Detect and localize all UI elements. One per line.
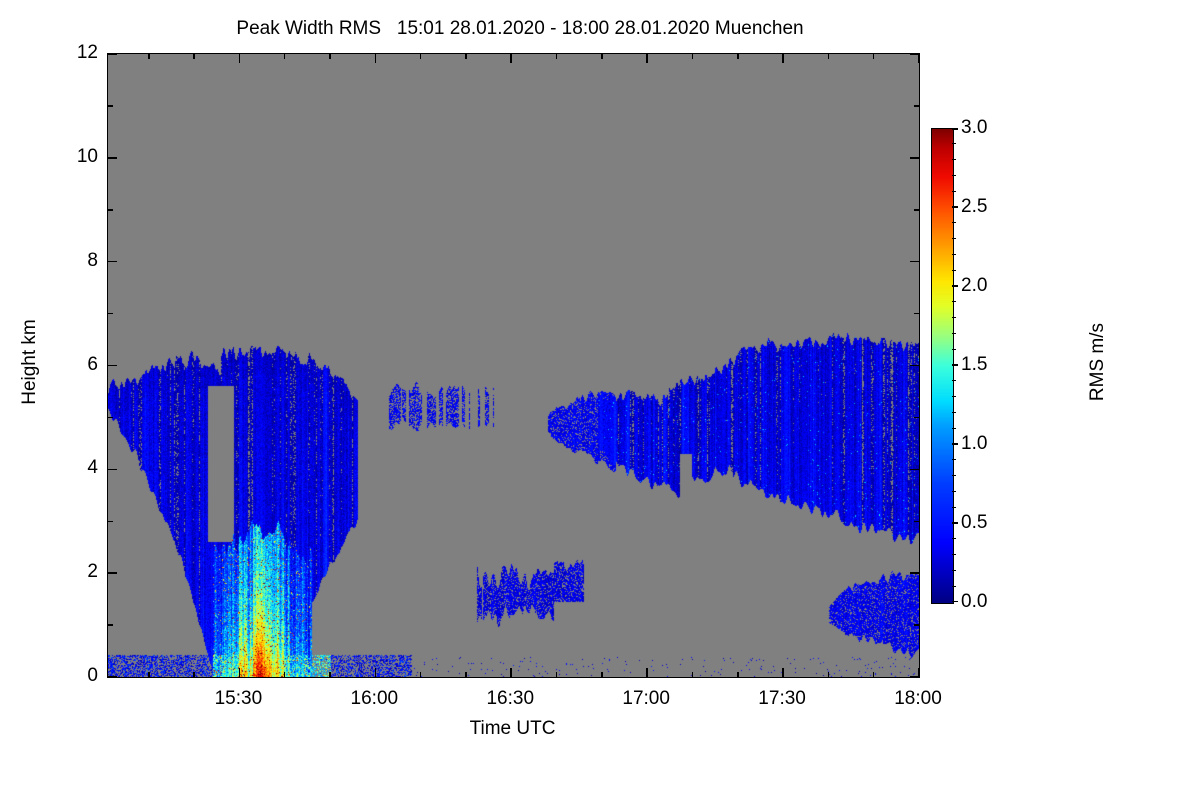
x-tick-major (782, 54, 784, 63)
x-tick-label: 17:00 (622, 688, 670, 710)
colorbar-tick-minor (952, 333, 956, 334)
x-tick-label: 17:30 (758, 688, 806, 710)
colorbar-tick-minor (952, 380, 956, 381)
colorbar-tick (952, 206, 958, 208)
y-tick-label: 2 (30, 561, 98, 583)
colorbar-tick-label: 0.5 (961, 512, 987, 534)
x-tick-major (375, 54, 377, 63)
x-tick-minor (692, 672, 694, 677)
x-tick-minor (556, 54, 558, 59)
colorbar-tick-label: 2.5 (961, 196, 987, 218)
colorbar-tick-minor (952, 301, 956, 302)
x-tick-major (510, 54, 512, 63)
colorbar-tick-minor (952, 191, 956, 192)
colorbar-tick-minor (952, 459, 956, 460)
x-tick-minor (465, 54, 467, 59)
x-tick-minor (329, 54, 331, 59)
colorbar-tick-minor (952, 143, 956, 144)
y-tick-major (108, 261, 117, 263)
x-tick-minor (737, 54, 739, 59)
y-tick-label: 12 (30, 42, 98, 64)
colorbar-tick (952, 443, 958, 445)
colorbar-tick-minor (952, 238, 956, 239)
colorbar-tick-label: 2.0 (961, 275, 987, 297)
colorbar-tick-minor (952, 538, 956, 539)
y-tick-major (108, 572, 117, 574)
y-axis-title: Height km (19, 272, 41, 452)
x-tick-minor (601, 672, 603, 677)
colorbar-tick-minor (952, 586, 956, 587)
colorbar-tick-minor (952, 317, 956, 318)
y-tick-major (910, 365, 919, 367)
heatmap-data-canvas (108, 54, 919, 677)
x-tick-major (646, 54, 648, 63)
y-tick-major (108, 676, 117, 678)
x-tick-minor (873, 54, 875, 59)
colorbar[interactable]: 0.00.51.01.52.02.53.0 (931, 128, 952, 602)
x-tick-major (239, 54, 241, 63)
x-tick-minor (737, 672, 739, 677)
y-tick-minor (108, 417, 113, 419)
colorbar-tick-minor (952, 491, 956, 492)
x-tick-minor (148, 54, 150, 59)
colorbar-tick-minor (952, 159, 956, 160)
y-tick-major (910, 157, 919, 159)
x-tick-minor (556, 672, 558, 677)
y-tick-minor (914, 209, 919, 211)
colorbar-tick-minor (952, 554, 956, 555)
plot-area[interactable] (107, 53, 920, 678)
y-tick-major (108, 53, 117, 55)
x-tick-label: 18:00 (894, 688, 942, 710)
colorbar-tick (952, 128, 958, 130)
colorbar-tick-label: 0.0 (961, 591, 987, 613)
x-tick-major (646, 668, 648, 677)
x-tick-minor (420, 54, 422, 59)
x-tick-minor (601, 54, 603, 59)
x-tick-minor (828, 54, 830, 59)
x-tick-major (239, 668, 241, 677)
colorbar-tick-minor (952, 222, 956, 223)
colorbar-gradient (931, 128, 954, 604)
x-tick-minor (148, 672, 150, 677)
x-tick-minor (193, 54, 195, 59)
figure-canvas: Peak Width RMS 15:01 28.01.2020 - 18:00 … (0, 0, 1200, 800)
y-tick-major (108, 157, 117, 159)
y-tick-minor (108, 105, 113, 107)
x-tick-minor (828, 672, 830, 677)
x-tick-label: 16:00 (351, 688, 399, 710)
y-tick-minor (108, 313, 113, 315)
colorbar-tick-minor (952, 175, 956, 176)
colorbar-tick-minor (952, 349, 956, 350)
x-tick-major (918, 54, 920, 63)
x-tick-label: 16:30 (486, 688, 534, 710)
y-tick-minor (914, 105, 919, 107)
x-axis-title: Time UTC (107, 718, 918, 740)
y-tick-minor (914, 521, 919, 523)
x-tick-minor (329, 672, 331, 677)
y-tick-minor (914, 417, 919, 419)
colorbar-tick-minor (952, 396, 956, 397)
x-tick-label: 15:30 (215, 688, 263, 710)
colorbar-tick-label: 3.0 (961, 117, 987, 139)
x-tick-major (375, 668, 377, 677)
colorbar-tick-minor (952, 428, 956, 429)
y-tick-major (910, 572, 919, 574)
y-tick-label: 4 (30, 457, 98, 479)
y-tick-major (108, 469, 117, 471)
y-tick-minor (914, 624, 919, 626)
x-tick-minor (692, 54, 694, 59)
x-tick-major (510, 668, 512, 677)
x-tick-minor (284, 54, 286, 59)
colorbar-tick-minor (952, 475, 956, 476)
x-tick-minor (465, 672, 467, 677)
colorbar-tick (952, 364, 958, 366)
colorbar-tick-minor (952, 412, 956, 413)
y-tick-label: 10 (30, 146, 98, 168)
colorbar-tick-minor (952, 254, 956, 255)
y-tick-minor (108, 624, 113, 626)
y-tick-label: 0 (30, 665, 98, 687)
colorbar-tick-label: 1.5 (961, 354, 987, 376)
x-tick-major (782, 668, 784, 677)
colorbar-tick (952, 285, 958, 287)
x-tick-minor (193, 672, 195, 677)
x-tick-minor (873, 672, 875, 677)
x-tick-minor (420, 672, 422, 677)
y-tick-major (108, 365, 117, 367)
y-tick-minor (914, 313, 919, 315)
colorbar-tick-minor (952, 270, 956, 271)
y-tick-minor (108, 209, 113, 211)
colorbar-tick-minor (952, 507, 956, 508)
y-tick-major (910, 261, 919, 263)
plot-title: Peak Width RMS 15:01 28.01.2020 - 18:00 … (0, 18, 1040, 40)
colorbar-title: RMS m/s (1087, 272, 1109, 452)
colorbar-tick (952, 522, 958, 524)
colorbar-tick (952, 601, 958, 603)
x-tick-minor (284, 672, 286, 677)
x-tick-major (918, 668, 920, 677)
y-tick-minor (108, 521, 113, 523)
y-tick-label: 8 (30, 250, 98, 272)
colorbar-tick-label: 1.0 (961, 433, 987, 455)
y-tick-major (910, 469, 919, 471)
colorbar-tick-minor (952, 570, 956, 571)
